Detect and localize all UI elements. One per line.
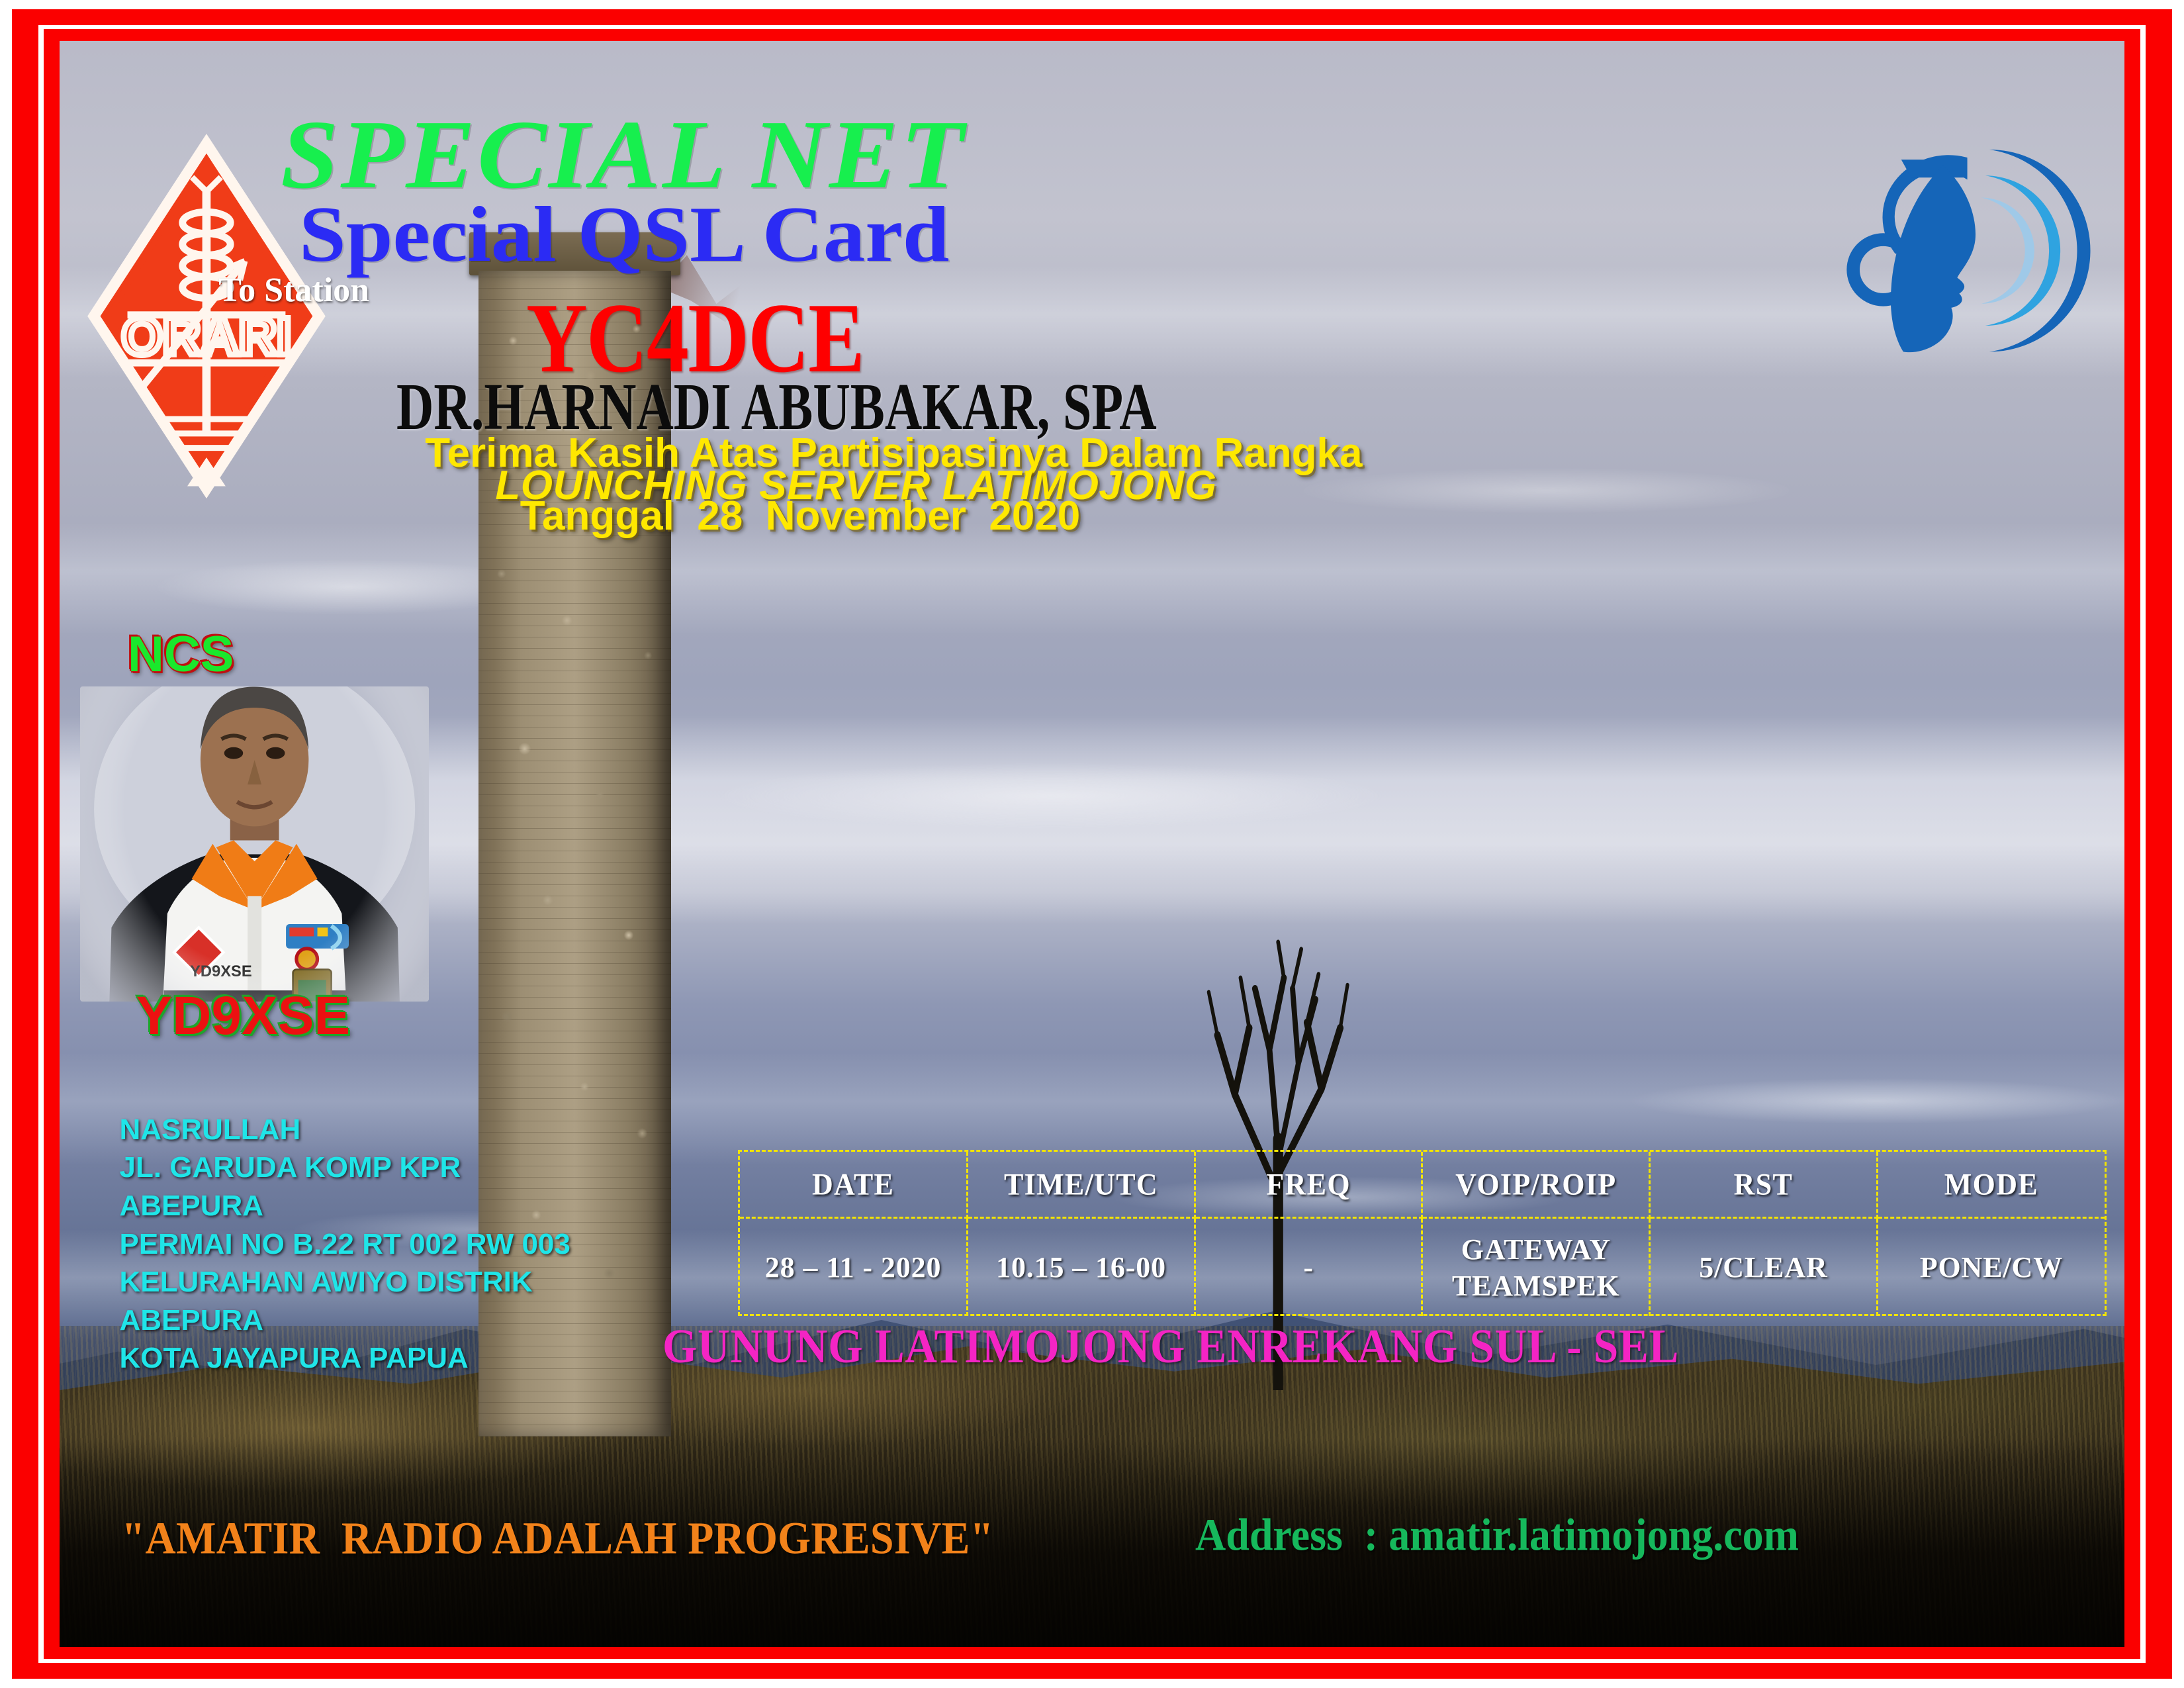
headphone-radio-logo-icon [1839,86,2099,415]
ncs-callsign: YD9XSE [136,985,350,1047]
col-header-mode: MODE [1877,1150,2105,1219]
location-line: GUNUNG LATIMOJONG ENREKANG SUL - SEL [662,1319,1679,1375]
footer-motto: "AMATIR RADIO ADALAH PROGRESIVE" [122,1512,994,1565]
cell-date: 28 – 11 - 2020 [740,1218,968,1317]
table-header-row: DATE TIME/UTC FREQ VOIP/ROIP RST MODE [740,1152,2105,1218]
to-station-label: To Station [218,271,369,310]
cell-mode: PONE/CW [1877,1218,2105,1317]
col-header-date: DATE [740,1150,968,1219]
cell-time-utc: 10.15 – 16-00 [968,1218,1195,1317]
address-line: PERMAI NO B.22 RT 002 RW 003 [119,1225,570,1264]
col-header-voip-roip: VOIP/ROIP [1422,1150,1650,1219]
table-row: 28 – 11 - 2020 10.15 – 16-00 - GATEWAY T… [740,1218,2105,1317]
col-header-rst: RST [1650,1150,1878,1219]
title-special-qsl-card: Special QSL Card [299,189,949,280]
card-content-layer: ORARI [60,41,2124,1647]
address-line: ABEPURA [119,1301,570,1340]
address-line: KOTA JAYAPURA PAPUA [119,1339,570,1378]
mailing-address-block: NASRULLAH JL. GARUDA KOMP KPR ABEPURA PE… [119,1111,570,1378]
svg-text:ORARI: ORARI [121,307,291,366]
col-header-time-utc: TIME/UTC [968,1150,1195,1219]
col-header-freq: FREQ [1195,1150,1422,1219]
footer-web-address: Address : amatir.latimojong.com [1195,1509,1799,1562]
qsl-card: ORARI [0,0,2184,1688]
address-line: ABEPURA [119,1187,570,1225]
cell-voip-roip: GATEWAY TEAMSPEK [1422,1218,1650,1317]
ncs-operator-photo: YD9XSE [80,686,429,1001]
qso-log-table: DATE TIME/UTC FREQ VOIP/ROIP RST MODE 28… [738,1150,2107,1316]
cell-freq: - [1195,1218,1422,1317]
cell-rst: 5/CLEAR [1650,1218,1878,1317]
address-line: KELURAHAN AWIYO DISTRIK [119,1263,570,1301]
event-date: Tanggal 28 November 2020 [520,492,1081,539]
address-line: JL. GARUDA KOMP KPR [119,1149,570,1187]
background-photograph: ORARI [60,41,2124,1647]
ncs-label: NCS [128,626,234,683]
address-line: NASRULLAH [119,1111,570,1149]
